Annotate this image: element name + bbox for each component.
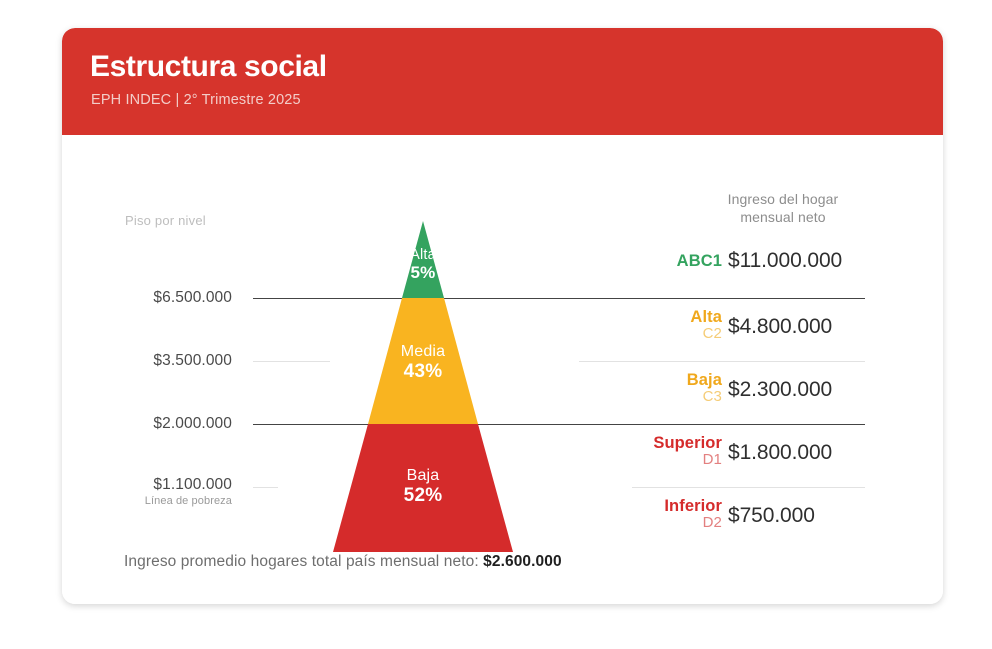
segment-name-abc1: ABC1 (626, 253, 722, 270)
segment-name-alta-c2: Alta (626, 309, 722, 326)
segment-amount-superior-d1: $1.800.000 (728, 441, 918, 465)
segment-row-alta-c2: Alta C2 (626, 309, 722, 342)
segment-name-superior-d1: Superior (626, 435, 722, 452)
segment-amount-baja-c3: $2.300.000 (728, 378, 918, 402)
segment-code-superior-d1: D1 (626, 452, 722, 468)
pyramid-tier-baja (333, 424, 513, 552)
footer-summary-amount: $2.600.000 (483, 553, 562, 570)
pyramid-svg (62, 135, 943, 604)
card-body: Piso por nivel Ingreso del hogar mensual… (62, 135, 943, 604)
segment-row-baja-c3: Baja C3 (626, 372, 722, 405)
pyramid-tier-media (368, 298, 478, 424)
footer-summary: Ingreso promedio hogares total país mens… (124, 553, 562, 571)
segment-amount-alta-c2: $4.800.000 (728, 315, 918, 339)
segment-name-baja-c3: Baja (626, 372, 722, 389)
card-header: Estructura social EPH INDEC | 2° Trimest… (62, 28, 943, 135)
footer-summary-text: Ingreso promedio hogares total país mens… (124, 553, 483, 570)
page-title: Estructura social (90, 50, 327, 84)
segment-code-alta-c2: C2 (626, 326, 722, 342)
page-subtitle: EPH INDEC | 2° Trimestre 2025 (91, 92, 301, 108)
segment-row-superior-d1: Superior D1 (626, 435, 722, 468)
segment-row-abc1: ABC1 (626, 253, 722, 270)
infographic-root: Estructura social EPH INDEC | 2° Trimest… (0, 0, 992, 649)
infographic-card: Estructura social EPH INDEC | 2° Trimest… (62, 28, 943, 604)
segment-amount-inferior-d2: $750.000 (728, 504, 918, 528)
segment-row-inferior-d2: Inferior D2 (626, 498, 722, 531)
segment-code-inferior-d2: D2 (626, 515, 722, 531)
pyramid-chart: Alta 5% Media 43% Baja 52% (62, 135, 943, 604)
segment-name-inferior-d2: Inferior (626, 498, 722, 515)
segment-code-baja-c3: C3 (626, 389, 722, 405)
segment-amount-abc1: $11.000.000 (728, 249, 918, 273)
pyramid-tier-alta (402, 221, 444, 298)
